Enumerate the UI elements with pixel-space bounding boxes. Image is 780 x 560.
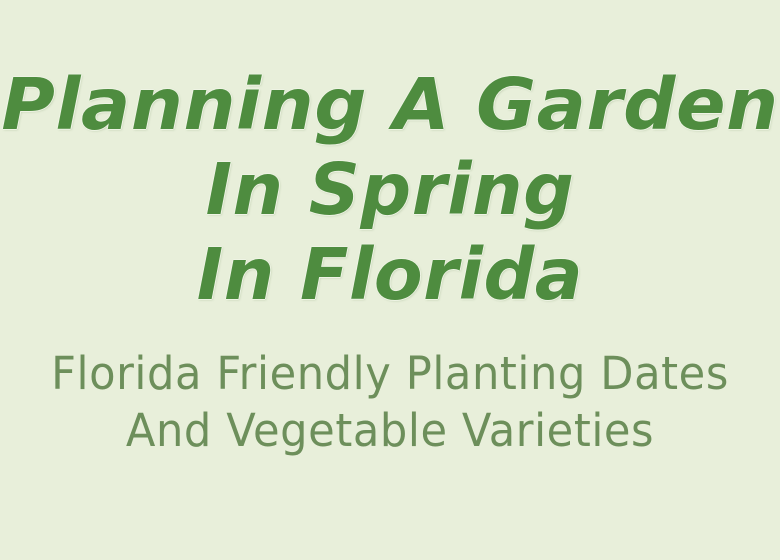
subtitle-line-1: Florida Friendly Planting Dates [16,345,765,402]
subtitle-block: Florida Friendly Planting Dates And Vege… [0,345,780,459]
title-line-3: In Florida [0,232,780,317]
title-line-2: In Spring [0,147,780,232]
subtitle-line-2: And Vegetable Varieties [16,402,765,459]
poster-canvas: Planning A Garden In Spring In Florida F… [0,0,780,560]
title-block: Planning A Garden In Spring In Florida [0,62,780,317]
title-line-1: Planning A Garden [0,62,780,147]
